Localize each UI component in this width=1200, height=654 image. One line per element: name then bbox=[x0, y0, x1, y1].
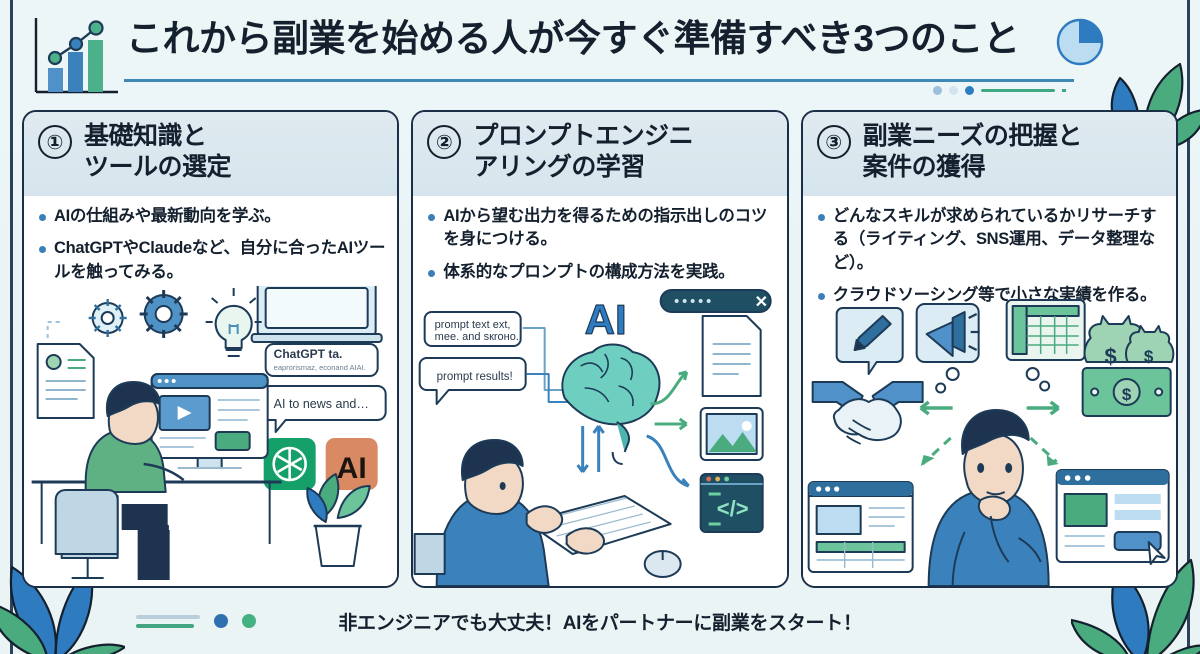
code-window-icon: </> bbox=[701, 474, 763, 532]
card-1-body: AIの仕組みや最新動向を学ぶ。 ChatGPTやClaudeなど、自分に合ったA… bbox=[24, 196, 397, 586]
svg-text:$: $ bbox=[1144, 347, 1154, 366]
header-dot-1 bbox=[933, 86, 942, 95]
infographic-canvas: これから副業を始める人が今すぐ準備すべき3つのこと ① 基礎知識と ツールの選定 bbox=[0, 0, 1200, 654]
search-bar-icon: ✕ bbox=[661, 290, 771, 312]
document-gear-icon bbox=[38, 344, 94, 418]
card-2-body: AIから望む出力を得るための指示出しのコツを身につける。 体系的なプロンプトの構… bbox=[413, 196, 786, 586]
card-1-title: 基礎知識と ツールの選定 bbox=[84, 120, 231, 183]
svg-text:$: $ bbox=[1104, 344, 1116, 369]
card-3-title-line1: 副業ニーズの把握と bbox=[863, 121, 1082, 152]
pie-chart-icon bbox=[1052, 8, 1114, 75]
card-1-header: ① 基礎知識と ツールの選定 bbox=[24, 112, 397, 196]
card-2-number-badge: ② bbox=[427, 125, 461, 159]
potted-plant-icon bbox=[307, 474, 369, 566]
card-1-number-badge: ① bbox=[38, 125, 72, 159]
cards-row: ① 基礎知識と ツールの選定 AIの仕組みや最新動向を学ぶ。 ChatGPTやC… bbox=[22, 110, 1178, 588]
card-3-illustration: $ $ $ bbox=[803, 286, 1176, 586]
person-typing bbox=[415, 440, 681, 586]
left-frame-line bbox=[10, 0, 13, 654]
svg-text:$: $ bbox=[1122, 385, 1132, 404]
output-arrow-2 bbox=[655, 419, 687, 429]
svg-text:✕: ✕ bbox=[755, 294, 768, 311]
code-glyph: </> bbox=[717, 496, 749, 521]
footer: 非エンジニアでも大丈夫！AIをパートナーに副業をスタート！ bbox=[16, 590, 1184, 654]
arrow-diag-right bbox=[1030, 438, 1056, 462]
card-2-header: ② プロンプトエンジニ アリングの学習 bbox=[413, 112, 786, 196]
header-dot-3 bbox=[965, 86, 974, 95]
gear-large-icon bbox=[140, 290, 188, 338]
card-1-bullet-1: AIの仕組みや最新動向を学ぶ。 bbox=[38, 205, 385, 228]
lightbulb-icon bbox=[206, 288, 262, 356]
image-output-icon bbox=[701, 408, 763, 460]
pen-icon bbox=[836, 308, 902, 374]
header-green-line bbox=[981, 89, 1055, 92]
right-frame-line bbox=[1187, 0, 1190, 654]
card-1-bubble-1-sub: eaprorismaz, econand AIAI. bbox=[274, 363, 366, 372]
header-dot-row bbox=[933, 86, 1066, 95]
card-1-title-line1: 基礎知識と bbox=[84, 121, 231, 152]
card-2-illustration: ✕ bbox=[413, 286, 786, 586]
card-2-bubble-1-sub: mee. and sкrоно. bbox=[435, 331, 519, 343]
card-1-bubble-2-text: AI to news and… bbox=[274, 397, 369, 411]
card-1[interactable]: ① 基礎知識と ツールの選定 AIの仕組みや最新動向を学ぶ。 ChatGPTやC… bbox=[22, 110, 399, 588]
page-title: これから副業を始める人が今すぐ準備すべき3つのこと bbox=[126, 12, 1020, 66]
ai-label: AI bbox=[585, 296, 627, 343]
header-dot-2 bbox=[949, 86, 958, 95]
card-2-bubble-2-text: prompt results! bbox=[437, 371, 513, 383]
card-1-illustration: AI bbox=[24, 286, 397, 586]
card-3[interactable]: ③ 副業ニーズの把握と 案件の獲得 どんなスキルが求められているかリサーチする（… bbox=[801, 110, 1178, 588]
money-icon: $ $ $ bbox=[1082, 316, 1173, 416]
megaphone-icon bbox=[916, 304, 979, 362]
card-3-title: 副業ニーズの把握と 案件の獲得 bbox=[863, 120, 1082, 183]
card-1-bullet-2: ChatGPTやClaudeなど、自分に合ったAIツールを触ってみる。 bbox=[38, 237, 385, 284]
header-green-line-tail bbox=[1062, 89, 1066, 92]
output-arrow-3 bbox=[647, 436, 689, 486]
svg-text:AI: AI bbox=[337, 452, 367, 485]
gear-small-icon bbox=[89, 299, 127, 337]
card-2-title: プロンプトエンジニ アリングの学習 bbox=[473, 120, 693, 183]
card-2-bubble-1-text: prompt text ext, bbox=[435, 319, 511, 331]
card-1-bubble-1-text: ChatGPT ta. bbox=[274, 347, 343, 361]
arrow-left bbox=[920, 402, 952, 414]
browser-window-left-icon bbox=[808, 482, 912, 572]
brain-flow-arrows bbox=[578, 426, 604, 472]
bar-chart-growth-icon bbox=[30, 12, 120, 99]
document-output-icon bbox=[703, 316, 761, 396]
card-3-header: ③ 副業ニーズの把握と 案件の獲得 bbox=[803, 112, 1176, 196]
card-3-title-line2: 案件の獲得 bbox=[863, 152, 1082, 183]
arrow-right bbox=[1026, 402, 1058, 414]
card-2-bullet-list: AIから望む出力を得るための指示出しのコツを身につける。 体系的なプロンプトの構… bbox=[427, 205, 774, 284]
card-3-number-badge: ③ bbox=[817, 125, 851, 159]
handshake-icon bbox=[812, 382, 922, 444]
person-thinking bbox=[928, 410, 1048, 586]
browser-window-right-icon bbox=[1056, 470, 1168, 564]
header: これから副業を始める人が今すぐ準備すべき3つのこと bbox=[16, 0, 1184, 104]
card-1-title-line2: ツールの選定 bbox=[84, 152, 231, 183]
laptop-icon bbox=[252, 286, 382, 342]
card-2-bullet-2: 体系的なプロンプトの構成方法を実践。 bbox=[427, 261, 774, 284]
card-2-bullet-1: AIから望む出力を得るための指示出しのコツを身につける。 bbox=[427, 205, 774, 252]
card-1-bullet-list: AIの仕組みや最新動向を学ぶ。 ChatGPTやClaudeなど、自分に合ったA… bbox=[38, 205, 385, 284]
monitor-icon bbox=[152, 374, 268, 468]
footer-text: 非エンジニアでも大丈夫！AIをパートナーに副業をスタート！ bbox=[16, 608, 1184, 635]
card-3-body: どんなスキルが求められているかリサーチする（ライティング、SNS運用、データ整理… bbox=[803, 196, 1176, 586]
thought-dots bbox=[936, 368, 1049, 393]
card-2-title-line2: アリングの学習 bbox=[473, 152, 693, 183]
spreadsheet-icon bbox=[1006, 300, 1084, 360]
card-3-bullet-1: どんなスキルが求められているかリサーチする（ライティング、SNS運用、データ整理… bbox=[817, 205, 1164, 275]
title-underline bbox=[124, 79, 1074, 82]
card-2-title-line1: プロンプトエンジニ bbox=[473, 121, 693, 152]
brain-icon bbox=[563, 345, 660, 465]
card-2[interactable]: ② プロンプトエンジニ アリングの学習 AIから望む出力を得るための指示出しのコ… bbox=[411, 110, 788, 588]
